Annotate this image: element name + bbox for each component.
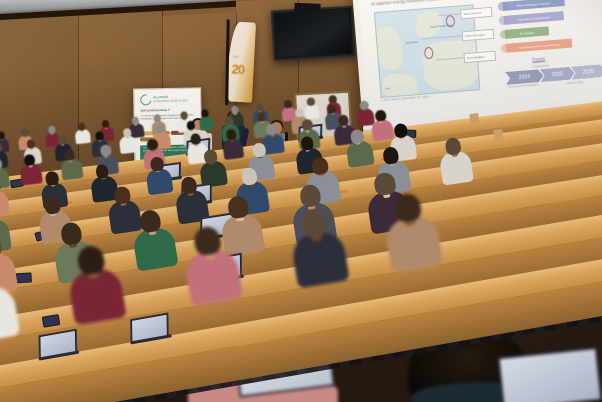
process-timeline: 202420252026 <box>505 64 602 85</box>
head <box>113 186 131 205</box>
head <box>102 120 110 128</box>
map-corner-label: Fra. <box>385 86 390 90</box>
head <box>48 125 56 133</box>
microphone <box>285 132 288 141</box>
flag-small-text: ans <box>233 55 238 59</box>
head <box>21 128 29 136</box>
lecture-hall-photo: ans 20 New tools & spaces impulse for th… <box>0 0 602 402</box>
head <box>231 106 239 114</box>
head <box>122 127 132 137</box>
head <box>43 196 61 215</box>
head <box>0 131 5 139</box>
head <box>95 164 109 179</box>
head <box>100 144 112 156</box>
head <box>294 107 304 117</box>
head <box>155 124 165 134</box>
head <box>252 142 266 157</box>
map-landmass <box>374 25 404 71</box>
head <box>375 110 387 122</box>
axis-label: Communication & recruitment <box>506 39 573 53</box>
tv-screen <box>275 10 351 57</box>
map-landmass <box>382 72 418 98</box>
audience-member <box>143 155 174 197</box>
head <box>154 114 162 122</box>
head <box>78 122 86 130</box>
head <box>350 129 364 144</box>
map-sea-label: North Sea <box>405 40 418 45</box>
map-callout: Team Allemagne <box>462 29 495 42</box>
map-callout: Team Denmark <box>460 7 493 20</box>
process-header: Process <box>532 57 545 62</box>
slide-title: New tools & spaces impulse for the Educa… <box>371 0 500 7</box>
axis-row: Short Advanced Courses <box>497 0 565 11</box>
head <box>180 111 188 119</box>
head <box>256 103 264 111</box>
head <box>45 170 59 185</box>
flag-number: 20 <box>231 62 244 78</box>
audience-member <box>74 122 91 145</box>
head <box>58 135 68 145</box>
head <box>150 156 164 171</box>
head <box>394 123 408 138</box>
axis-row: Internship development <box>499 11 565 25</box>
alliance-mark-icon <box>138 92 153 107</box>
timeline-year: 2026 <box>571 64 602 80</box>
axis-label: Internship development <box>504 11 565 25</box>
head <box>300 135 314 150</box>
head <box>307 97 315 105</box>
axis-row: E-Campus <box>500 26 550 39</box>
head <box>298 183 321 208</box>
flag-pole <box>225 19 229 105</box>
audience-member <box>220 128 245 162</box>
axis-label: Short Advanced Courses <box>502 0 565 11</box>
audience-member <box>118 127 138 155</box>
process-label-right: Implementing <box>566 80 583 85</box>
head <box>147 138 159 150</box>
head <box>284 100 292 108</box>
head <box>359 100 369 110</box>
attendee-phone[interactable] <box>16 272 32 283</box>
head <box>256 112 266 122</box>
head <box>186 120 196 130</box>
rollup-headline: Qui sommes-nous ? <box>140 108 169 113</box>
head <box>311 156 329 175</box>
head <box>301 119 313 131</box>
attendee-phone[interactable] <box>41 314 60 327</box>
coffee-cup <box>469 113 479 125</box>
head <box>26 138 36 148</box>
rollup-logo: ALLIANCE INTERREG NORTH SEA <box>140 94 188 106</box>
coffee-cup <box>493 129 504 142</box>
head <box>373 171 396 196</box>
timeline-year: 2025 <box>540 66 575 82</box>
head <box>132 116 140 124</box>
head <box>201 109 209 117</box>
audience-member <box>198 108 215 131</box>
foreground-laptop[interactable] <box>497 347 602 402</box>
head <box>224 116 234 126</box>
map-callout: Team Belgique <box>463 51 496 64</box>
wall-mounted-tv[interactable] <box>271 6 356 62</box>
head <box>204 149 218 164</box>
rollup-logo-text: ALLIANCE INTERREG NORTH SEA <box>153 95 188 103</box>
axis-row: Communication & recruitment <box>501 39 572 54</box>
axis-label: E-Campus <box>505 26 550 38</box>
map-pin <box>445 15 455 28</box>
audience-member <box>344 128 375 170</box>
head <box>329 95 337 103</box>
head <box>94 131 104 141</box>
